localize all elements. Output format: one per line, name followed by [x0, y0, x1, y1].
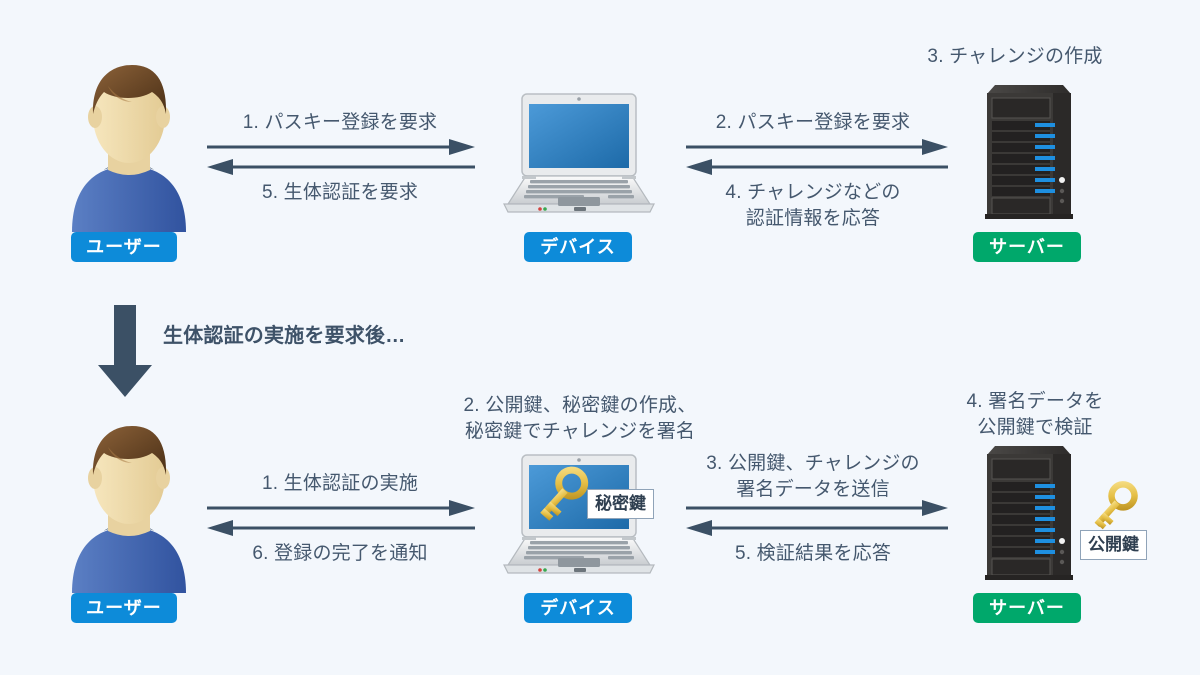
- arrow-server-to-device-phase1: [686, 159, 948, 177]
- diagram-canvas: ユーザー 1. パスキー登録を要求 5. 生体認証を要求: [0, 0, 1200, 675]
- device-pill-phase1: デバイス: [524, 232, 632, 262]
- message-device-to-server-phase1-label: 2. パスキー登録を要求: [675, 110, 951, 136]
- server-rack-icon-phase2: [983, 443, 1075, 583]
- server-rack-icon-phase1: [983, 82, 1075, 222]
- message-device-to-user-phase2-label: 6. 登録の完了を通知: [205, 541, 475, 567]
- arrow-user-to-device-phase1: [207, 139, 475, 157]
- key-icon-public: [1083, 478, 1143, 536]
- arrow-device-to-server-phase2: [686, 500, 948, 518]
- arrow-device-to-user-phase1: [207, 159, 475, 177]
- message-user-to-device-phase2-label: 1. 生体認証の実施: [205, 471, 475, 497]
- server-note-phase1: 3. チャレンジの作成: [880, 44, 1150, 70]
- laptop-icon-phase1: [496, 92, 662, 217]
- private-key-badge: 秘密鍵: [587, 489, 654, 519]
- public-key-badge: 公開鍵: [1080, 530, 1147, 560]
- message-server-to-device-phase2-label: 5. 検証結果を応答: [675, 541, 951, 567]
- arrow-device-to-user-phase2: [207, 520, 475, 538]
- key-icon-private: [527, 463, 595, 527]
- user-avatar-icon: [68, 62, 190, 232]
- server-pill-phase1: サーバー: [973, 232, 1081, 262]
- arrow-server-to-device-phase2: [686, 520, 948, 538]
- user-pill-phase1: ユーザー: [71, 232, 177, 262]
- user-pill-phase2: ユーザー: [71, 593, 177, 623]
- message-user-to-device-phase1-label: 1. パスキー登録を要求: [205, 110, 475, 136]
- device-pill-phase2: デバイス: [524, 593, 632, 623]
- message-server-to-device-phase1-label: 4. チャレンジなどの 認証情報を応答: [675, 180, 951, 232]
- arrow-user-to-device-phase2: [207, 500, 475, 518]
- device-note-phase2: 2. 公開鍵、秘密鍵の作成、 秘密鍵でチャレンジを署名: [420, 393, 740, 445]
- down-arrow-icon: [96, 305, 154, 397]
- transition-label: 生体認証の実施を要求後…: [163, 323, 583, 349]
- user-avatar-icon-phase2: [68, 423, 190, 593]
- server-note-phase2: 4. 署名データを 公開鍵で検証: [920, 389, 1150, 441]
- arrow-device-to-server-phase1: [686, 139, 948, 157]
- server-pill-phase2: サーバー: [973, 593, 1081, 623]
- message-device-to-user-phase1-label: 5. 生体認証を要求: [205, 180, 475, 206]
- message-device-to-server-phase2-label: 3. 公開鍵、チャレンジの 署名データを送信: [675, 451, 951, 503]
